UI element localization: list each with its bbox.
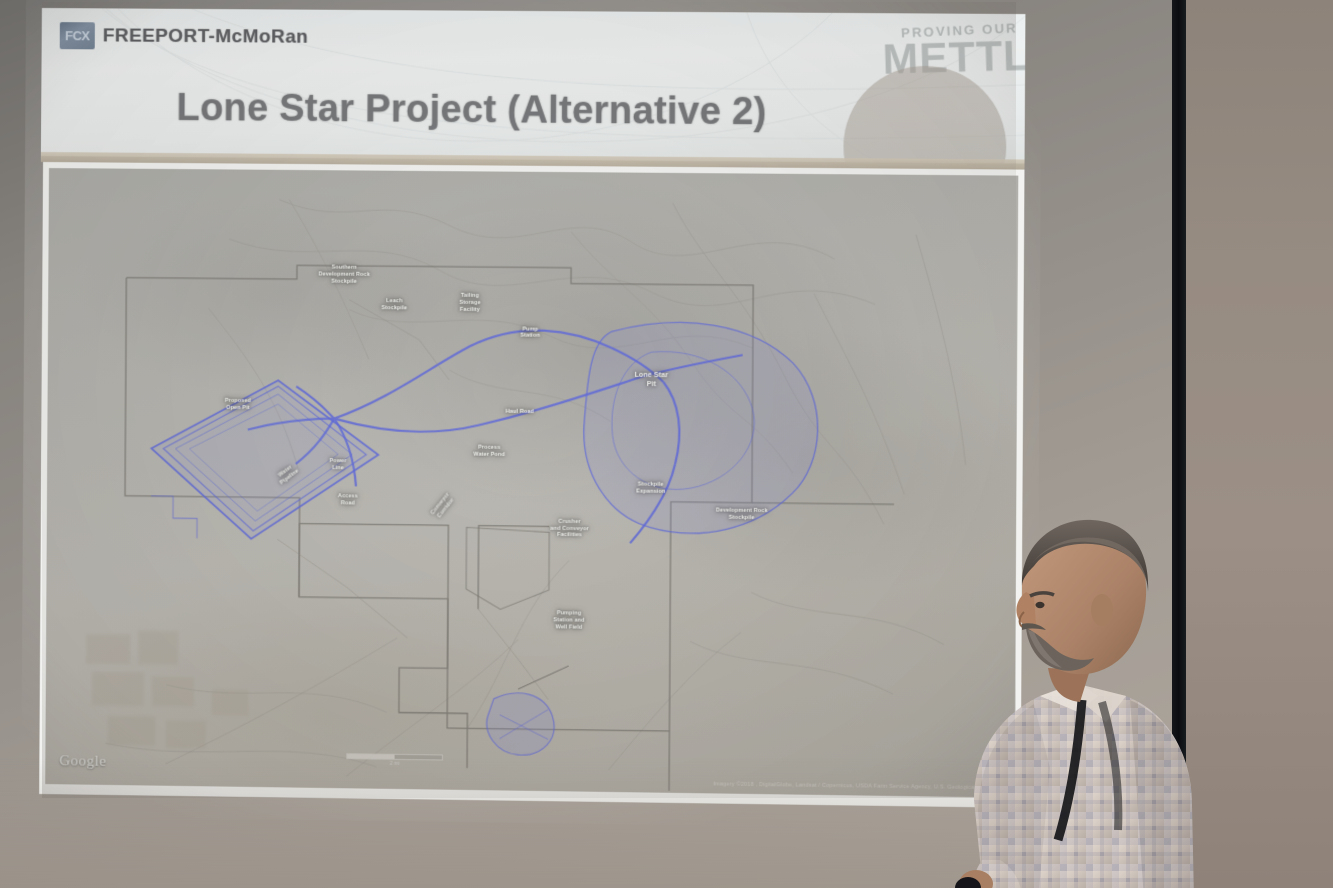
projected-slide: FCX FREEPORT-McMoRan PROVING OUR METTLE … <box>37 2 1025 812</box>
slide-header: FCX FREEPORT-McMoRan PROVING OUR METTLE … <box>41 8 1025 164</box>
freeport-logo: FCX FREEPORT-McMoRan <box>60 22 309 51</box>
presenter-figure <box>930 500 1230 888</box>
map-vector-overlay <box>45 168 1018 798</box>
google-watermark: Google <box>59 753 106 771</box>
company-name: FREEPORT-McMoRan <box>103 25 309 48</box>
presentation-scene: FCX FREEPORT-McMoRan PROVING OUR METTLE … <box>0 0 1333 888</box>
presenter-illustration <box>930 500 1230 888</box>
map-scale-bar: 2 mi <box>346 753 443 767</box>
page-title: Lone Star Project (Alternative 2) <box>176 87 766 134</box>
satellite-map: Southern Development Rock StockpileLeach… <box>45 168 1018 798</box>
fcx-logo-icon: FCX <box>60 22 95 49</box>
map-frame: Southern Development Rock StockpileLeach… <box>39 162 1024 808</box>
